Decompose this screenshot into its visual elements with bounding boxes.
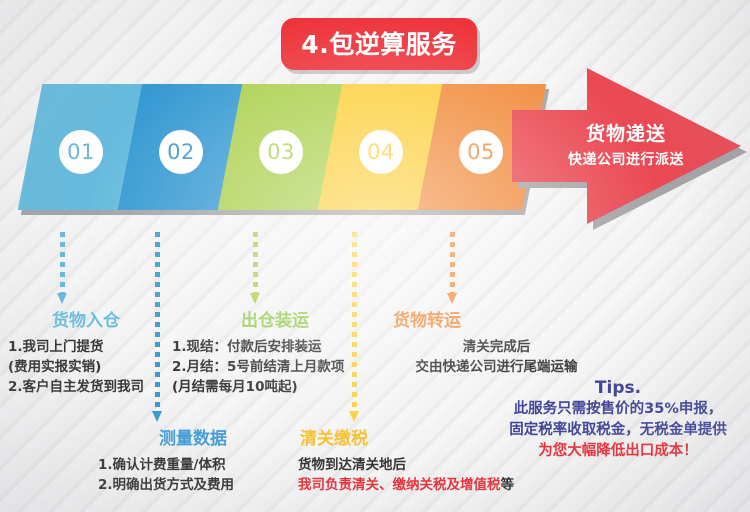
- step-number-badge-02: 02: [159, 130, 203, 174]
- delivery-arrow: 货物递送 快递公司进行派送: [491, 64, 750, 236]
- connector-line: [60, 232, 65, 293]
- step-label-05: 货物转运 清关完成后 交由快递公司进行尾端运输: [373, 312, 620, 378]
- highlight-suffix: 等: [501, 477, 515, 493]
- step-detail-line: 2.客户自主发货到我司: [8, 378, 164, 398]
- step-detail-line: 清关完成后: [373, 338, 620, 358]
- highlight-text: 我司负责清关、缴纳关税及增值税: [298, 477, 501, 493]
- tips-line-3: 为您大幅降低出口成本！: [489, 441, 747, 462]
- infographic-canvas: 4.包逆算服务 01 02 03: [0, 0, 750, 512]
- step-detail-line-highlight: 我司负责清关、缴纳关税及增值税等: [298, 476, 538, 496]
- step-heading-05: 货物转运: [373, 312, 620, 331]
- tips-block: Tips. 此服务只需按售价的35%申报， 固定税率收取税金，无税金单提供 为您…: [489, 378, 747, 462]
- step-detail-line: 1.确认计费重量/体积: [98, 456, 288, 476]
- step-detail-line: 2.明确出货方式及费用: [98, 476, 288, 496]
- connector-05: [450, 232, 455, 304]
- step-detail-line: 2.月结：5号前结清上月款项: [172, 358, 378, 378]
- step-number-01: 01: [67, 140, 95, 164]
- step-number-badge-01: 01: [59, 130, 103, 174]
- step-heading-01: 货物入仓: [8, 312, 164, 331]
- step-detail-line: (费用实报实销): [8, 358, 164, 378]
- step-number-02: 02: [167, 140, 195, 164]
- step-detail-line: 交由快递公司进行尾端运输: [373, 358, 620, 378]
- step-heading-03: 出仓装运: [172, 312, 378, 331]
- step-number-03: 03: [267, 140, 295, 164]
- connector-arrowhead-icon: [152, 411, 162, 422]
- step-number-badge-04: 04: [359, 130, 403, 174]
- step-number-04: 04: [367, 140, 395, 164]
- connector-01: [60, 232, 65, 304]
- step-heading-02: 测量数据: [98, 430, 288, 449]
- tips-line-2: 固定税率收取税金，无税金单提供: [489, 420, 747, 441]
- title-badge: 4.包逆算服务: [281, 18, 477, 70]
- step-label-02: 测量数据 1.确认计费重量/体积 2.明确出货方式及费用: [98, 430, 288, 496]
- connector-line: [253, 232, 258, 293]
- step-detail-line: (月结需每月10吨起): [172, 378, 378, 398]
- connector-arrowhead-icon: [447, 293, 457, 304]
- step-detail-line: 1.现结：付款后安排装运: [172, 338, 378, 358]
- page-title: 4.包逆算服务: [301, 32, 456, 57]
- step-detail-line: 1.我司上门提货: [8, 338, 164, 358]
- connector-03: [253, 232, 258, 304]
- step-label-03: 出仓装运 1.现结：付款后安排装运 2.月结：5号前结清上月款项 (月结需每月1…: [172, 312, 378, 398]
- arrow-title: 货物递送: [543, 122, 709, 147]
- arrow-text-block: 货物递送 快递公司进行派送: [543, 122, 709, 170]
- tips-line-1: 此服务只需按售价的35%申报，: [489, 399, 747, 420]
- connector-arrowhead-icon: [250, 293, 260, 304]
- connector-arrowhead-icon: [57, 293, 67, 304]
- step-number-badge-03: 03: [259, 130, 303, 174]
- step-label-01: 货物入仓 1.我司上门提货 (费用实报实销) 2.客户自主发货到我司: [8, 312, 164, 398]
- arrow-subtitle: 快递公司进行派送: [543, 151, 709, 171]
- connector-arrowhead-icon: [349, 411, 359, 422]
- tips-title: Tips.: [489, 378, 747, 399]
- connector-line: [450, 232, 455, 293]
